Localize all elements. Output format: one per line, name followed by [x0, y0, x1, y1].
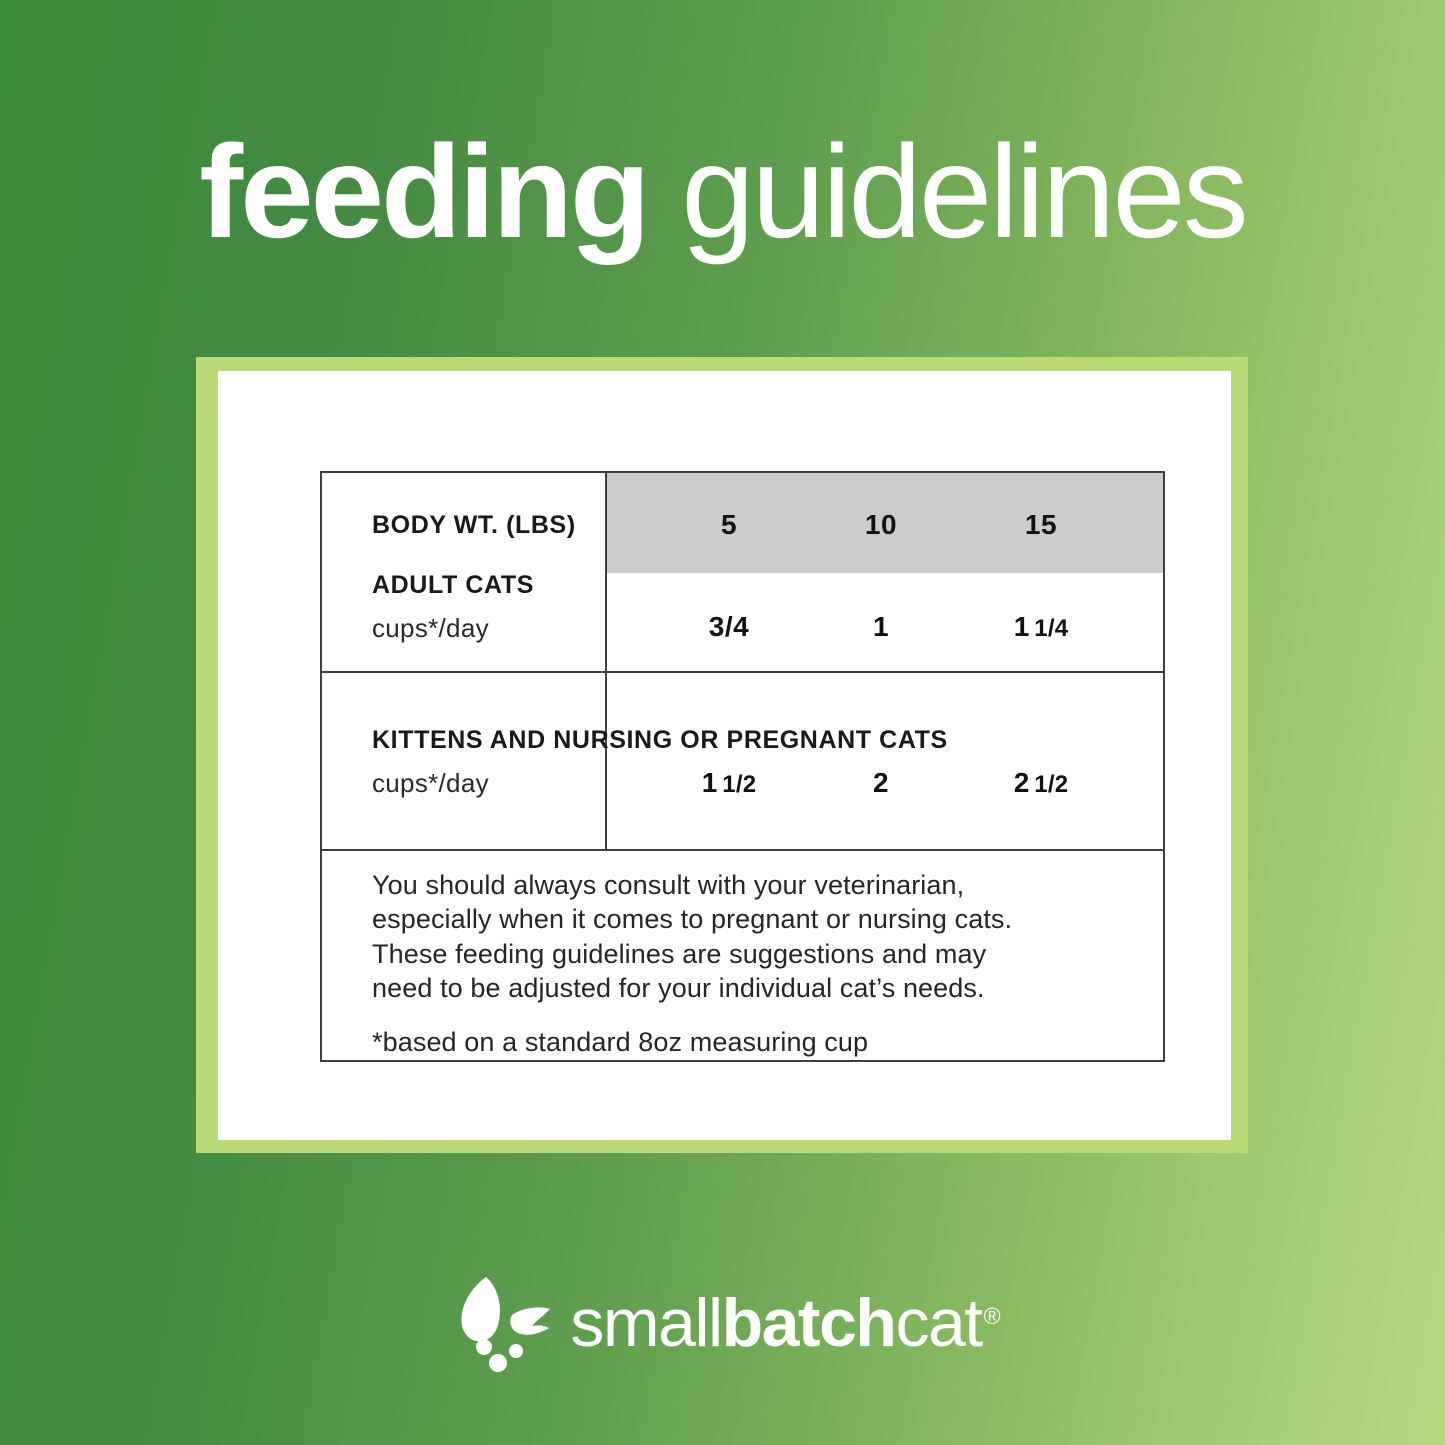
kittens-label: KITTENS AND NURSING OR PREGNANT CATS: [372, 726, 948, 755]
notes-block: You should always consult with your vete…: [372, 868, 1133, 1059]
registered-trademark-icon: ®: [984, 1303, 1001, 1329]
adult-cats-amount-1: 3/4: [709, 611, 749, 643]
brand-logo: smallbatchcat®: [0, 1258, 1445, 1388]
logo-word-small: small: [570, 1285, 721, 1361]
table-row-divider-2: [320, 849, 1165, 851]
feeding-table: BODY WT. (LBS) 5 10 15 ADULT CATS cups*/…: [320, 471, 1165, 1062]
logo-word-batch: batch: [722, 1285, 896, 1361]
kittens-amount-2: 2: [873, 767, 889, 799]
feeding-guidelines-page: feeding guidelines BODY WT. (LBS) 5 10 1…: [0, 0, 1445, 1445]
table-vertical-divider: [605, 473, 607, 850]
leaf-and-bird-icon: [446, 1271, 564, 1375]
body-weight-value-3: 15: [1025, 509, 1057, 541]
note-line-2: especially when it comes to pregnant or …: [372, 902, 1133, 936]
body-weight-label: BODY WT. (LBS): [372, 511, 576, 540]
kittens-amount-3: 2 1/2: [1014, 767, 1069, 799]
body-weight-value-2: 10: [865, 509, 897, 541]
body-weight-value-1: 5: [721, 509, 737, 541]
note-spacer: [372, 1005, 1133, 1025]
note-line-1: You should always consult with your vete…: [372, 868, 1133, 902]
logo-word-cat: cat: [895, 1285, 981, 1361]
note-line-4: need to be adjusted for your individual …: [372, 971, 1133, 1005]
feeding-card: BODY WT. (LBS) 5 10 15 ADULT CATS cups*/…: [218, 371, 1231, 1140]
kittens-amount-1: 1 1/2: [702, 767, 757, 799]
card-frame: BODY WT. (LBS) 5 10 15 ADULT CATS cups*/…: [196, 357, 1248, 1153]
adult-cats-label: ADULT CATS: [372, 571, 534, 600]
footnote: *based on a standard 8oz measuring cup: [372, 1025, 1133, 1059]
title-light-word: guidelines: [648, 118, 1246, 265]
adult-cats-unit: cups*/day: [372, 613, 489, 644]
title-bold-word: feeding: [199, 118, 647, 265]
table-row-divider-1: [320, 671, 1165, 673]
adult-cats-amount-2: 1: [873, 611, 889, 643]
note-line-3: These feeding guidelines are suggestions…: [372, 937, 1133, 971]
logo-wordmark: smallbatchcat®: [570, 1289, 998, 1357]
adult-cats-amount-3: 1 1/4: [1014, 611, 1069, 643]
kittens-unit: cups*/day: [372, 768, 489, 799]
page-title: feeding guidelines: [0, 126, 1445, 258]
